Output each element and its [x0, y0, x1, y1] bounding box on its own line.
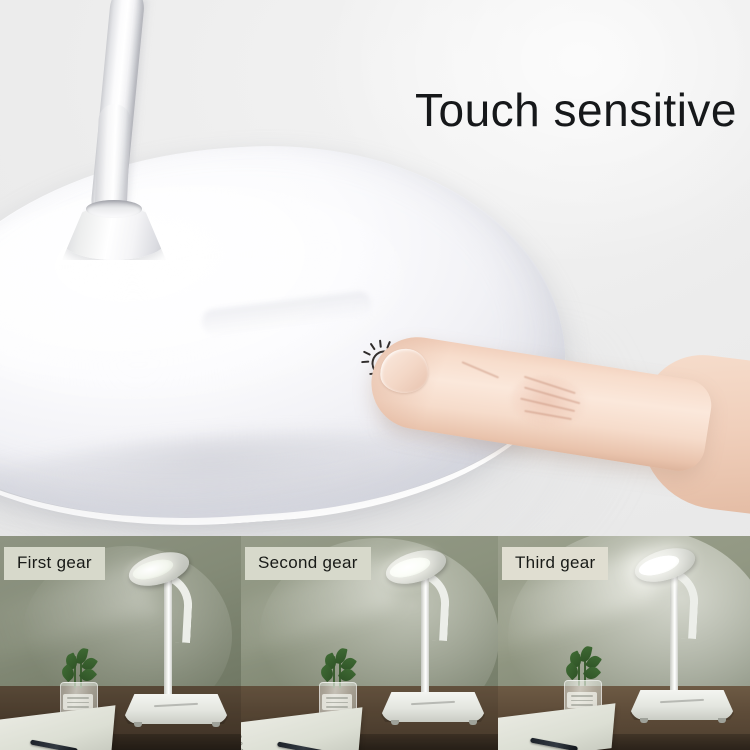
gear-badge: Second gear [245, 547, 371, 580]
sun-ray [361, 360, 369, 363]
lamp-neck [421, 574, 429, 702]
lamp-base-mini [124, 694, 228, 724]
lamp-foot [134, 722, 142, 727]
jar-label [322, 694, 352, 710]
product-marketing-image: ON Touch sensitive [0, 0, 750, 750]
panel-second-gear: Second gear [241, 536, 498, 750]
hero-section: ON Touch sensitive [0, 0, 750, 536]
lamp-neck [164, 576, 172, 704]
gear-comparison-strip: First gear [0, 536, 750, 750]
lamp-neck-collar [62, 196, 166, 260]
lamp-foot [640, 718, 648, 723]
lamp-collar-ring [86, 200, 142, 218]
lamp-foot [212, 722, 220, 727]
hand [372, 300, 750, 530]
page-title: Touch sensitive [415, 83, 737, 137]
gear-badge: First gear [4, 547, 105, 580]
lamp-foot [391, 720, 399, 725]
lamp-neck [670, 572, 678, 700]
lamp-foot [718, 718, 726, 723]
lamp-foot [469, 720, 477, 725]
panel-third-gear: Third gear [498, 536, 750, 750]
gear-badge: Third gear [502, 547, 608, 580]
skin-crease [461, 361, 499, 378]
sun-ray [363, 350, 371, 355]
panel-first-gear: First gear [0, 536, 241, 750]
lamp-base-mini [381, 692, 485, 722]
lamp-base-mini [630, 690, 734, 720]
